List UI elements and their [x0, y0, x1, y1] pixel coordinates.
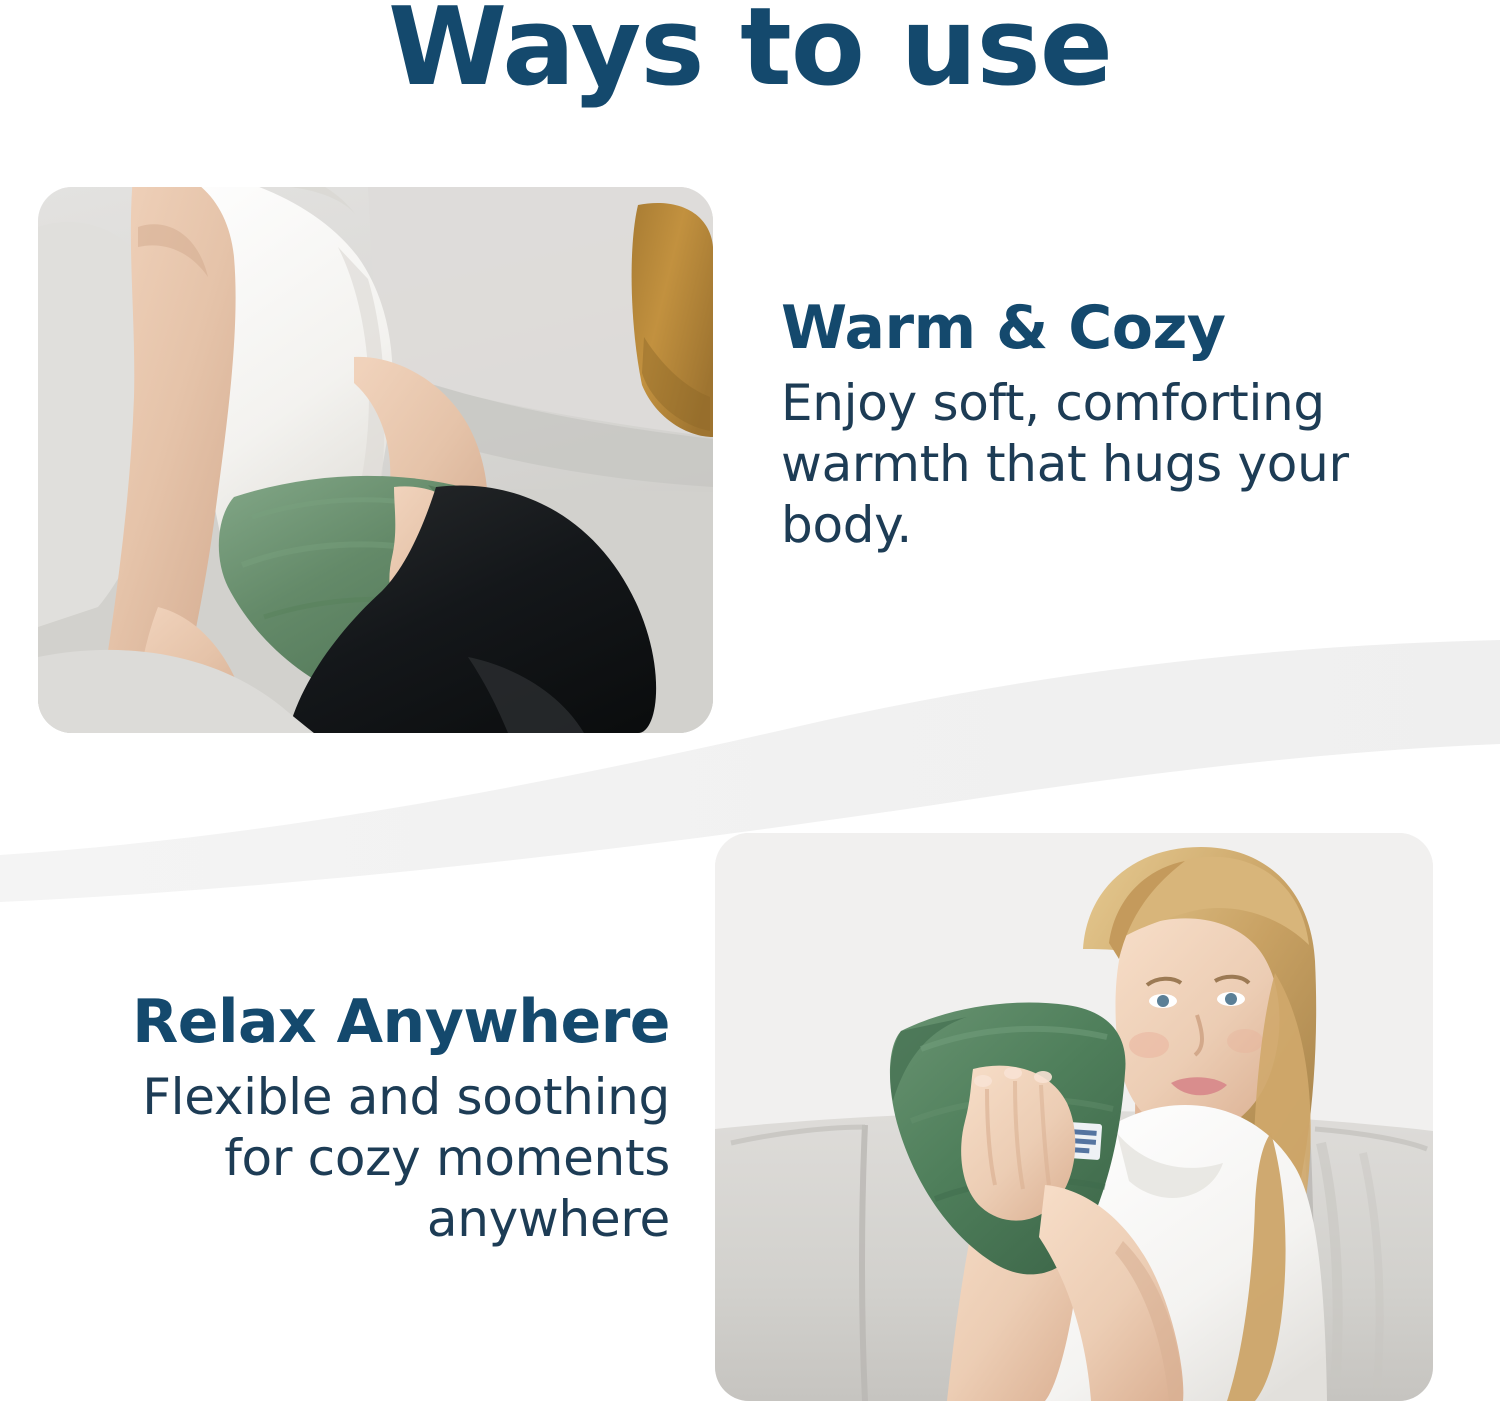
fingernail-2: [1004, 1067, 1022, 1079]
photo-blonde-woman-holding-heat-pad-on-shoulder: [715, 833, 1433, 1401]
feature-heading-warm-cozy: Warm & Cozy: [781, 296, 1381, 361]
feature-text-relax-anywhere: Relax Anywhere Flexible and soothing for…: [62, 990, 670, 1250]
iris-left: [1157, 995, 1169, 1007]
fingernail-3: [1034, 1071, 1052, 1083]
cheek-blush-right: [1227, 1029, 1263, 1053]
photo-woman-on-couch-with-heat-pad-on-lap: [38, 187, 713, 733]
couch-seam-left: [862, 1125, 865, 1401]
fingernail-1: [974, 1075, 992, 1087]
feature-text-warm-cozy: Warm & Cozy Enjoy soft, comforting warmt…: [781, 296, 1381, 556]
infographic-page: Ways to use: [0, 0, 1500, 1402]
feature-body-relax-anywhere: Flexible and soothing for cozy moments a…: [62, 1067, 670, 1250]
feature-body-warm-cozy: Enjoy soft, comforting warmth that hugs …: [781, 373, 1381, 556]
feature-heading-relax-anywhere: Relax Anywhere: [62, 990, 670, 1055]
page-title: Ways to use: [0, 0, 1500, 102]
cheek-blush-left: [1129, 1032, 1169, 1058]
iris-right: [1225, 993, 1237, 1005]
